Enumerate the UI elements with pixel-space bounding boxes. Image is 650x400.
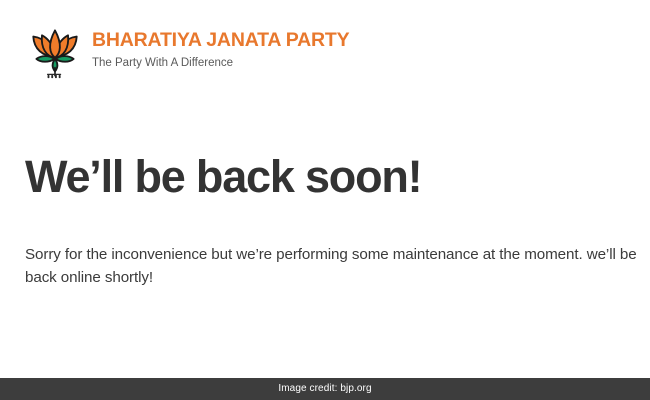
maintenance-message: Sorry for the inconvenience but we’re pe… (25, 243, 641, 289)
party-name: BHARATIYA JANATA PARTY (92, 30, 349, 50)
maintenance-page: BHARATIYA JANATA PARTY The Party With A … (0, 0, 650, 400)
brand-header: BHARATIYA JANATA PARTY The Party With A … (24, 18, 349, 80)
image-credit-text: Image credit: bjp.org (278, 384, 371, 394)
page-title: We’ll be back soon! (25, 152, 421, 202)
brand-text-block: BHARATIYA JANATA PARTY The Party With A … (92, 18, 349, 71)
party-tagline: The Party With A Difference (92, 57, 349, 71)
image-credit-bar: Image credit: bjp.org (0, 378, 650, 400)
bjp-lotus-icon (24, 18, 86, 80)
